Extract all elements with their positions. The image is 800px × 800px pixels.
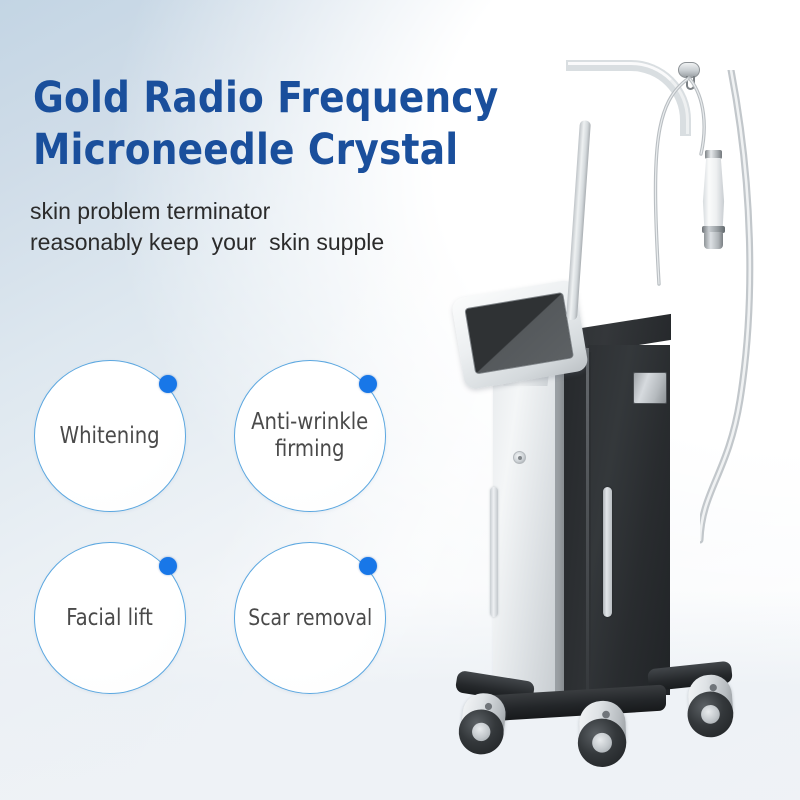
subheadline-line-2: reasonably keep your skin supple [30, 227, 570, 258]
headline-line-2: Microneedle Crystal [33, 124, 576, 176]
feature-bubble-whitening: Whitening [34, 360, 186, 512]
bubble-accent-dot-icon [159, 375, 177, 393]
feature-bubble-anti-wrinkle-firming: Anti-wrinkle firming [234, 360, 386, 512]
headline-line-1: Gold Radio Frequency [33, 72, 576, 124]
bubble-accent-dot-icon [359, 375, 377, 393]
feature-label: Whitening [52, 423, 167, 450]
feature-bubble-facial-lift: Facial lift [34, 542, 186, 694]
promo-poster: Gold Radio Frequency Microneedle Crystal… [0, 0, 800, 800]
feature-label: Scar removal [240, 605, 379, 632]
feature-label: Facial lift [59, 605, 161, 632]
subheadline-line-1: skin problem terminator [30, 196, 570, 227]
feature-bubble-scar-removal: Scar removal [234, 542, 386, 694]
subheadline: skin problem terminator reasonably keep … [30, 196, 570, 258]
headline: Gold Radio Frequency Microneedle Crystal [33, 72, 593, 176]
feature-label: Anti-wrinkle firming [244, 409, 376, 463]
bubble-accent-dot-icon [359, 557, 377, 575]
bubble-accent-dot-icon [159, 557, 177, 575]
